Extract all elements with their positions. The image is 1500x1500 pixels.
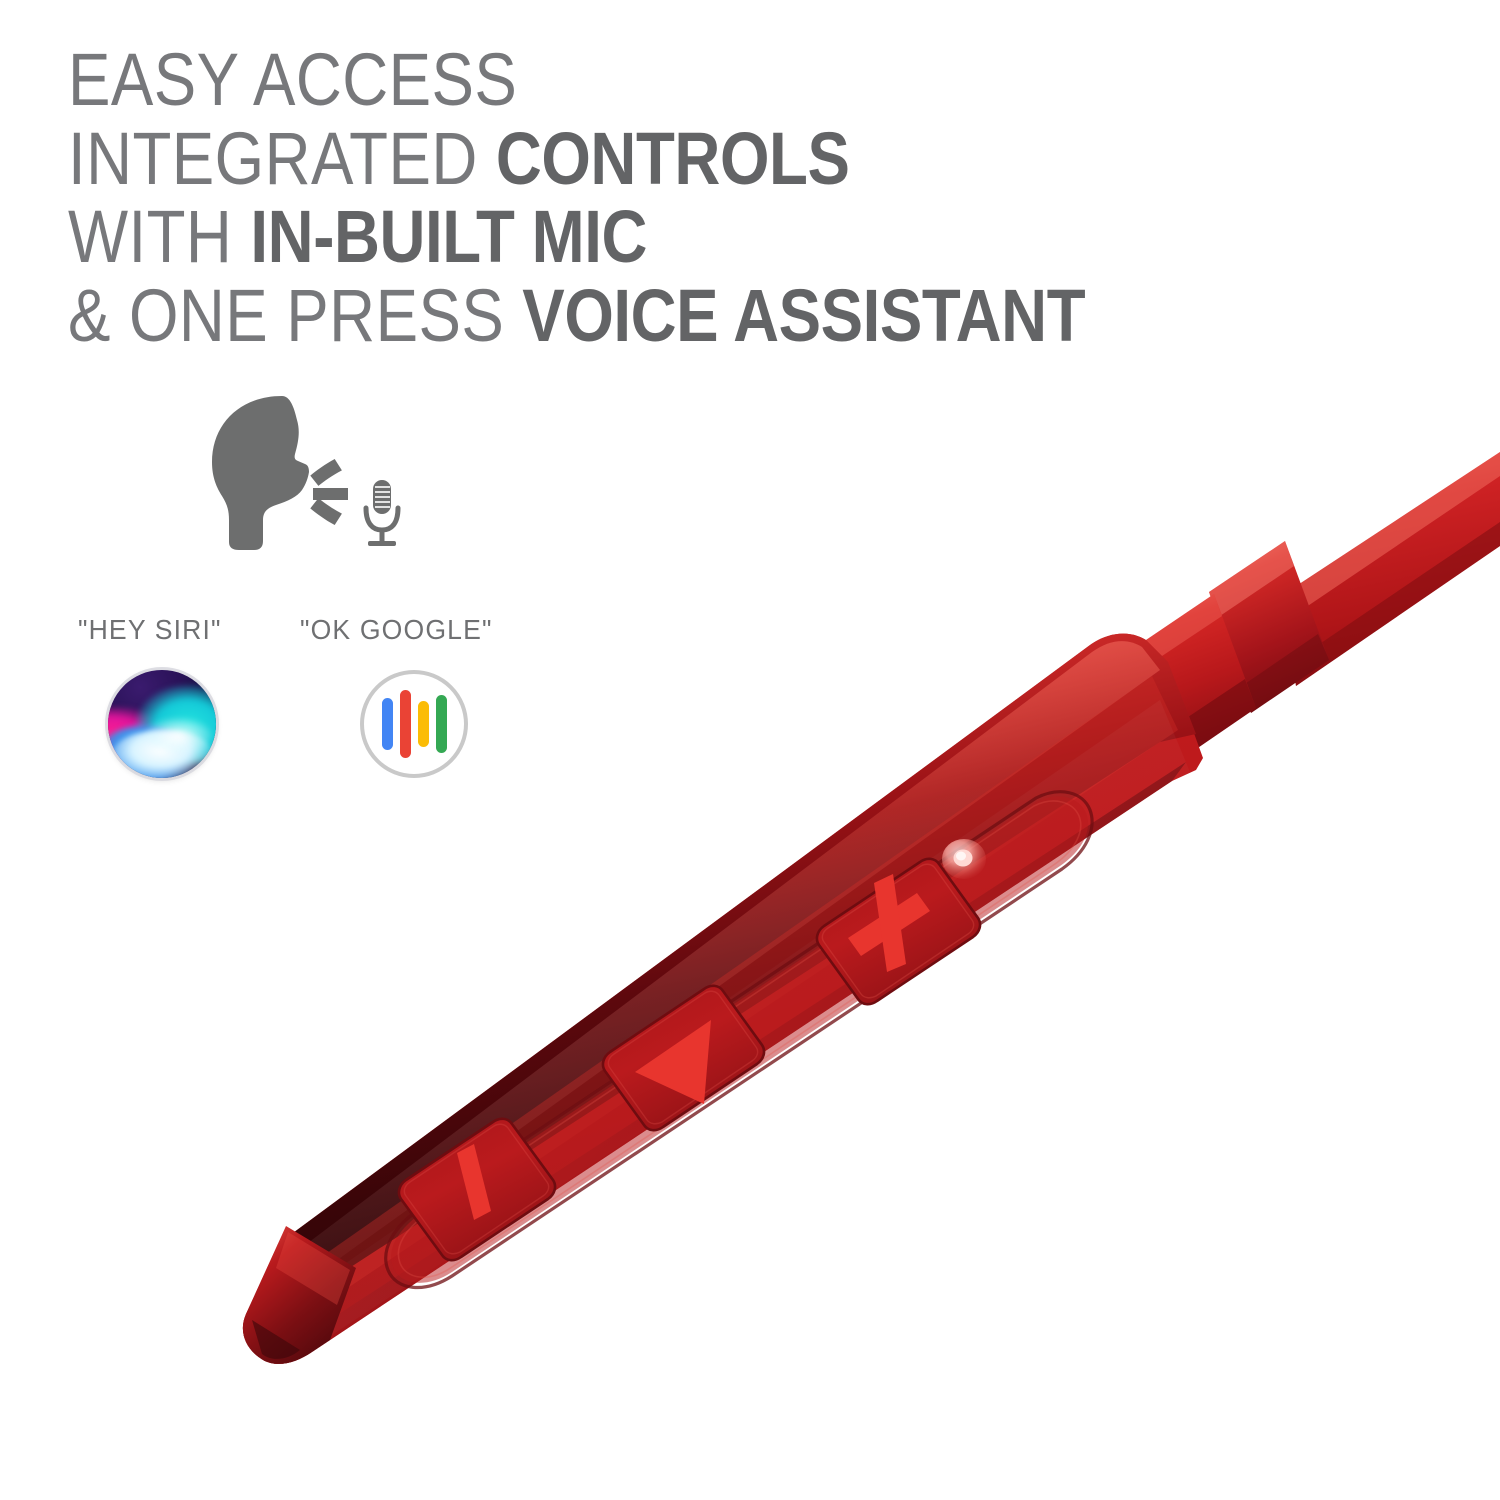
headline-segment: EASY ACCESS — [68, 38, 517, 121]
google-assistant-icon[interactable] — [360, 670, 468, 778]
siri-orb-icon[interactable] — [108, 670, 216, 778]
headline-segment: INTEGRATED — [68, 117, 496, 200]
headline-segment-emphasis: CONTROLS — [496, 117, 850, 200]
headline-line-3: WITH IN-BUILT MIC — [68, 201, 1238, 274]
headline-block: EASY ACCESS INTEGRATED CONTROLS WITH IN-… — [68, 44, 1428, 358]
led-status-indicator — [942, 839, 986, 879]
cable-neck — [1146, 594, 1256, 756]
promo-banner: EASY ACCESS INTEGRATED CONTROLS WITH IN-… — [0, 0, 1500, 1500]
headline-line-2: INTEGRATED CONTROLS — [68, 123, 1238, 196]
headline-segment: WITH — [68, 195, 250, 278]
assistant-label-siri: "HEY SIRI" — [78, 614, 259, 646]
headline-segment-emphasis: VOICE ASSISTANT — [522, 274, 1085, 357]
google-bar-blue — [382, 698, 393, 750]
control-panel — [386, 792, 1092, 1288]
play-pause-button[interactable] — [603, 986, 764, 1130]
headline-line-4: & ONE PRESS VOICE ASSISTANT — [68, 280, 1238, 353]
assistant-google[interactable]: "OK GOOGLE" — [300, 614, 550, 778]
headline-segment: & ONE PRESS — [68, 274, 522, 357]
microphone-icon — [359, 478, 405, 550]
earphone-cable — [1281, 452, 1500, 686]
google-bar-green — [436, 695, 447, 753]
google-bar-red — [400, 690, 411, 758]
voice-assistant-illustration — [196, 392, 426, 567]
volume-up-button[interactable] — [817, 859, 980, 1004]
headline-segment-emphasis: IN-BUILT MIC — [250, 195, 647, 278]
headline-line-1: EASY ACCESS — [68, 44, 1238, 117]
siri-orb-body — [108, 670, 216, 778]
google-assistant-ring — [360, 670, 468, 778]
cable-collar — [1209, 541, 1329, 713]
siri-wave-highlight — [145, 718, 212, 755]
speaking-head-icon — [196, 392, 376, 552]
assistant-siri[interactable]: "HEY SIRI" — [78, 614, 268, 778]
google-bar-yellow — [418, 701, 429, 747]
assistant-label-google: "OK GOOGLE" — [300, 614, 538, 646]
volume-down-button[interactable] — [399, 1119, 555, 1260]
